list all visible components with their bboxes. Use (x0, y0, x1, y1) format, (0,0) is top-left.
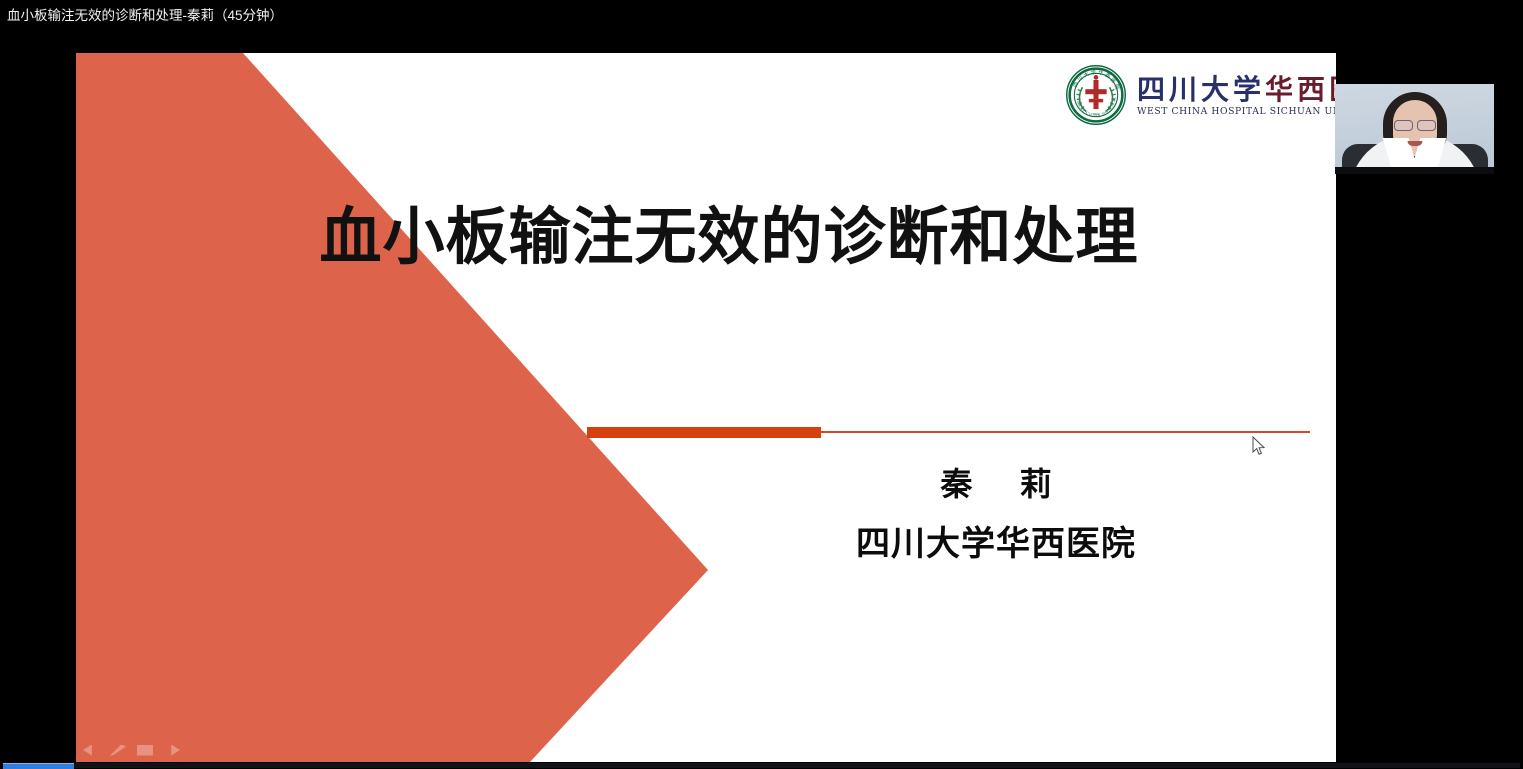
slide-title: 血小板输注无效的诊断和处理 (76, 201, 1336, 272)
speaker-name: 秦 莉 (716, 468, 1276, 500)
window-title-bar: 血小板输注无效的诊断和处理-秦莉（45分钟） (0, 0, 1523, 31)
divider-thin-rule (821, 431, 1310, 433)
presenter-webcam[interactable] (1335, 84, 1494, 174)
webcam-bottom-strip (1335, 167, 1494, 174)
title-divider (587, 425, 1310, 441)
playback-progress-fill (3, 763, 74, 769)
speaker-block: 秦 莉 四川大学华西医院 (716, 468, 1276, 561)
speaker-organization: 四川大学华西医院 (716, 527, 1276, 561)
hospital-logo: 四川大学华西医院 WEST CHINA HOSPITAL 1892 四川大学华西… (1065, 63, 1313, 127)
hospital-emblem-icon: 四川大学华西医院 WEST CHINA HOSPITAL 1892 (1065, 64, 1127, 126)
hospital-wordmark: 四川大学华西医院 WEST CHINA HOSPITAL SICHUAN UNI… (1137, 74, 1336, 116)
hospital-wordmark-cn: 四川大学华西医院 (1137, 76, 1336, 104)
player-bottom-bar (0, 762, 1523, 769)
glasses-icon (1394, 120, 1436, 130)
playback-progress-track[interactable] (3, 763, 1520, 768)
hospital-wordmark-en: WEST CHINA HOSPITAL SICHUAN UNIVERSITY (1137, 107, 1336, 116)
slide-controls-toolbar[interactable] (83, 744, 180, 756)
slide-thumbnails-icon[interactable] (137, 745, 153, 756)
hospital-wordmark-cn-part2: 华西医院 (1265, 73, 1336, 106)
pen-icon[interactable] (110, 745, 126, 756)
previous-slide-icon[interactable] (83, 745, 99, 756)
divider-thick-bar (587, 427, 821, 438)
slide-canvas[interactable]: 四川大学华西医院 WEST CHINA HOSPITAL 1892 四川大学华西… (76, 53, 1336, 762)
window-title: 血小板输注无效的诊断和处理-秦莉（45分钟） (0, 9, 283, 23)
next-slide-icon[interactable] (164, 745, 180, 756)
svg-text:1892: 1892 (1092, 112, 1100, 116)
presentation-stage: 四川大学华西医院 WEST CHINA HOSPITAL 1892 四川大学华西… (0, 31, 1523, 769)
orange-chevron-decoration (76, 53, 710, 762)
hospital-wordmark-cn-part1: 四川大学 (1137, 73, 1265, 106)
